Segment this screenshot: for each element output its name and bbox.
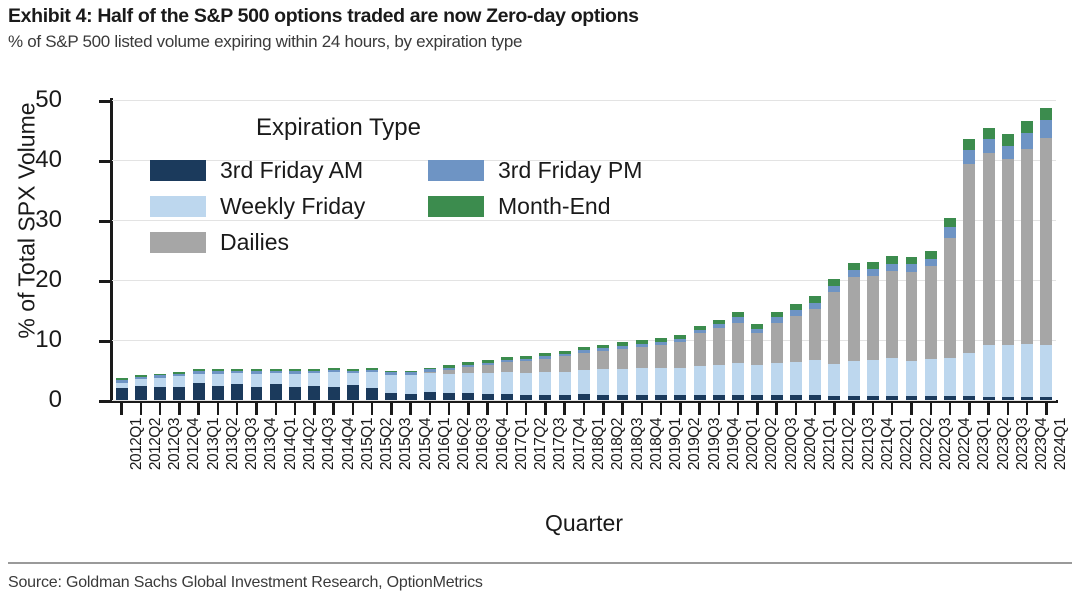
bar-segment — [597, 369, 609, 394]
x-tick-label: 2017Q2 — [532, 418, 550, 470]
x-tick-label: 2014Q2 — [301, 418, 319, 470]
x-axis-title: Quarter — [112, 510, 1056, 537]
bar-column[interactable] — [443, 365, 455, 400]
bar-segment — [655, 395, 667, 400]
bar-column[interactable] — [308, 369, 320, 400]
bar-segment — [906, 396, 918, 400]
x-tick-mark — [236, 402, 239, 415]
x-tick-label: 2014Q1 — [282, 418, 300, 470]
bar-segment — [617, 395, 629, 400]
legend-item[interactable]: Weekly Friday — [150, 195, 428, 218]
bar-column[interactable] — [347, 369, 359, 400]
x-tick-label: 2021Q4 — [879, 418, 897, 470]
legend-swatch — [150, 196, 206, 217]
bar-segment — [848, 361, 860, 396]
bar-segment — [193, 383, 205, 400]
x-tick-mark — [332, 402, 335, 415]
bar-segment — [636, 368, 648, 395]
x-tick-mark — [949, 402, 952, 415]
x-tick-label: 2018Q3 — [629, 418, 647, 470]
x-tick-label: 2022Q4 — [956, 418, 974, 470]
legend-label: 3rd Friday AM — [220, 159, 363, 182]
x-tick-label: 2023Q2 — [995, 418, 1013, 470]
bar-column[interactable] — [809, 296, 821, 400]
x-tick-mark — [756, 402, 759, 415]
bar-segment — [944, 238, 956, 358]
x-tick-mark — [217, 402, 220, 415]
bar-segment — [520, 395, 532, 400]
bar-segment — [983, 139, 995, 153]
x-tick-label: 2022Q1 — [898, 418, 916, 470]
x-tick-mark — [814, 402, 817, 415]
bar-column[interactable] — [848, 263, 860, 400]
bar-segment — [443, 374, 455, 394]
bar-segment — [1040, 108, 1052, 121]
bar-segment — [983, 397, 995, 400]
bar-column[interactable] — [270, 369, 282, 400]
bar-segment — [1002, 397, 1014, 400]
bar-segment — [1040, 397, 1052, 400]
y-tick-mark — [99, 400, 111, 403]
x-tick-mark — [525, 402, 528, 415]
x-tick-label: 2022Q2 — [918, 418, 936, 470]
x-tick-mark — [371, 402, 374, 415]
bar-column[interactable] — [655, 338, 667, 400]
x-tick-mark — [852, 402, 855, 415]
bar-segment — [674, 395, 686, 400]
x-tick-mark — [409, 402, 412, 415]
y-tick-label: 50 — [35, 88, 62, 112]
bar-segment — [135, 379, 147, 386]
x-tick-mark — [872, 402, 875, 415]
bar-column[interactable] — [116, 378, 128, 400]
bar-column[interactable] — [751, 324, 763, 400]
bar-segment — [963, 353, 975, 396]
bar-segment — [790, 362, 802, 396]
bar-segment — [1021, 133, 1033, 149]
bar-segment — [578, 394, 590, 400]
x-tick-mark — [602, 402, 605, 415]
bar-segment — [790, 395, 802, 400]
bar-column[interactable] — [1021, 121, 1033, 400]
legend-items: 3rd Friday AM3rd Friday PMWeekly FridayM… — [150, 152, 670, 260]
x-tick-mark — [795, 402, 798, 415]
bar-column[interactable] — [886, 256, 898, 400]
bar-segment — [963, 150, 975, 164]
bar-segment — [559, 372, 571, 395]
bar-segment — [520, 361, 532, 373]
x-tick-mark — [891, 402, 894, 415]
bar-segment — [405, 394, 417, 400]
bar-segment — [713, 395, 725, 400]
source-note: Source: Goldman Sachs Global Investment … — [8, 574, 483, 592]
bar-segment — [597, 395, 609, 400]
bar-segment — [424, 392, 436, 400]
bar-segment — [771, 395, 783, 400]
x-tick-label: 2021Q1 — [821, 418, 839, 470]
bar-segment — [539, 359, 551, 373]
bar-segment — [655, 368, 667, 395]
x-tick-mark — [429, 402, 432, 415]
bar-segment — [559, 356, 571, 372]
x-tick-mark — [178, 402, 181, 415]
legend-label: 3rd Friday PM — [498, 159, 642, 182]
bar-column[interactable] — [501, 357, 513, 400]
bar-segment — [828, 279, 840, 286]
bar-segment — [578, 353, 590, 370]
bar-segment — [328, 387, 340, 400]
bar-segment — [482, 365, 494, 373]
bar-segment — [482, 373, 494, 394]
x-tick-mark — [448, 402, 451, 415]
bar-segment — [578, 370, 590, 394]
x-tick-label: 2023Q4 — [1033, 418, 1051, 470]
bar-segment — [867, 396, 879, 400]
bar-column[interactable] — [925, 251, 937, 400]
x-tick-mark — [737, 402, 740, 415]
bar-column[interactable] — [694, 326, 706, 400]
bar-segment — [828, 292, 840, 364]
chart-legend: Expiration Type 3rd Friday AM3rd Friday … — [150, 116, 670, 260]
x-tick-label: 2017Q3 — [551, 418, 569, 470]
bar-segment — [944, 358, 956, 396]
x-tick-label: 2015Q4 — [417, 418, 435, 470]
bar-segment — [963, 396, 975, 400]
bar-segment — [347, 385, 359, 400]
bar-column[interactable] — [154, 374, 166, 400]
bar-segment — [501, 362, 513, 372]
bar-segment — [809, 360, 821, 395]
legend-swatch — [428, 196, 484, 217]
x-tick-mark — [255, 402, 258, 415]
x-tick-mark — [390, 402, 393, 415]
bar-segment — [1021, 149, 1033, 344]
bar-segment — [1002, 134, 1014, 145]
bar-column[interactable] — [385, 371, 397, 400]
bar-segment — [135, 386, 147, 400]
bar-column[interactable] — [771, 312, 783, 400]
bar-segment — [636, 347, 648, 368]
y-tick-label: 40 — [35, 148, 62, 172]
legend-label: Month-End — [498, 195, 611, 218]
x-tick-mark — [467, 402, 470, 415]
bar-column[interactable] — [328, 368, 340, 400]
x-tick-mark — [987, 402, 990, 415]
x-tick-label: 2016Q1 — [436, 418, 454, 470]
legend-label: Weekly Friday — [220, 195, 365, 218]
x-tick-mark — [910, 402, 913, 415]
bar-segment — [925, 396, 937, 400]
bar-column[interactable] — [597, 345, 609, 400]
x-tick-label: 2014Q3 — [320, 418, 338, 470]
bar-segment — [366, 372, 378, 388]
bar-segment — [790, 316, 802, 362]
bar-segment — [828, 364, 840, 396]
x-tick-label: 2018Q2 — [609, 418, 627, 470]
bar-column[interactable] — [674, 335, 686, 400]
bar-segment — [1002, 159, 1014, 345]
bar-column[interactable] — [578, 347, 590, 400]
x-tick-mark — [294, 402, 297, 415]
x-tick-mark — [679, 402, 682, 415]
x-tick-label: 2015Q3 — [397, 418, 415, 470]
bar-segment — [886, 396, 898, 400]
x-tick-label: 2018Q1 — [590, 418, 608, 470]
bar-segment — [1021, 121, 1033, 133]
bar-segment — [424, 373, 436, 392]
bar-column[interactable] — [135, 375, 147, 400]
bar-segment — [809, 309, 821, 359]
bar-segment — [751, 365, 763, 395]
x-tick-mark — [275, 402, 278, 415]
x-tick-mark — [833, 402, 836, 415]
bar-segment — [848, 277, 860, 361]
y-tick-label: 0 — [49, 388, 62, 412]
bar-segment — [289, 374, 301, 387]
bar-segment — [655, 345, 667, 368]
legend-item[interactable]: 3rd Friday PM — [428, 159, 706, 182]
bar-segment — [983, 153, 995, 345]
bar-segment — [462, 373, 474, 393]
x-tick-label: 2019Q2 — [686, 418, 704, 470]
bar-segment — [636, 395, 648, 400]
bar-segment — [848, 396, 860, 400]
x-tick-label: 2014Q4 — [340, 418, 358, 470]
exhibit-header: Exhibit 4: Half of the S&P 500 options t… — [8, 6, 1072, 51]
bar-segment — [963, 139, 975, 150]
x-tick-label: 2024Q1 — [1052, 418, 1070, 470]
bar-column[interactable] — [405, 371, 417, 400]
bar-segment — [867, 262, 879, 269]
x-tick-label: 2012Q2 — [147, 418, 165, 470]
bar-segment — [674, 368, 686, 396]
y-tick-label: 20 — [35, 268, 62, 292]
x-tick-label: 2016Q3 — [474, 418, 492, 470]
x-tick-label: 2017Q4 — [571, 418, 589, 470]
bar-segment — [713, 365, 725, 395]
bar-segment — [751, 395, 763, 400]
bar-segment — [251, 374, 263, 387]
bar-column[interactable] — [539, 353, 551, 400]
x-tick-label: 2013Q3 — [243, 418, 261, 470]
bar-column[interactable] — [212, 369, 224, 400]
x-tick-label: 2013Q4 — [262, 418, 280, 470]
legend-item[interactable]: Month-End — [428, 195, 706, 218]
x-tick-mark — [486, 402, 489, 415]
bar-column[interactable] — [983, 128, 995, 400]
bar-segment — [983, 128, 995, 139]
x-tick-label: 2013Q1 — [205, 418, 223, 470]
y-tick-label: 30 — [35, 208, 62, 232]
bar-column[interactable] — [636, 340, 648, 400]
bar-segment — [944, 396, 956, 400]
bar-segment — [886, 256, 898, 264]
x-tick-mark — [352, 402, 355, 415]
bar-column[interactable] — [617, 342, 629, 400]
bar-segment — [154, 387, 166, 400]
x-tick-label: 2022Q3 — [937, 418, 955, 470]
bar-segment — [906, 361, 918, 396]
bar-column[interactable] — [482, 360, 494, 400]
bar-column[interactable] — [732, 312, 744, 400]
bar-segment — [925, 266, 937, 359]
bar-column[interactable] — [828, 279, 840, 400]
bar-segment — [231, 373, 243, 384]
bar-segment — [443, 393, 455, 400]
bar-column[interactable] — [520, 356, 532, 400]
bar-column[interactable] — [867, 262, 879, 400]
bar-column[interactable] — [1002, 134, 1014, 400]
x-tick-mark — [159, 402, 162, 415]
bar-column[interactable] — [462, 362, 474, 400]
x-tick-mark — [930, 402, 933, 415]
bar-segment — [944, 218, 956, 228]
bar-segment — [925, 359, 937, 396]
bar-segment — [713, 328, 725, 365]
x-tick-label: 2015Q1 — [359, 418, 377, 470]
x-tick-label: 2016Q2 — [455, 418, 473, 470]
bar-segment — [328, 372, 340, 386]
bar-segment — [539, 372, 551, 394]
bar-segment — [173, 376, 185, 387]
bar-segment — [501, 372, 513, 394]
bar-segment — [886, 264, 898, 271]
bar-segment — [809, 303, 821, 310]
bar-column[interactable] — [193, 369, 205, 400]
bar-column[interactable] — [251, 369, 263, 400]
x-tick-label: 2020Q2 — [763, 418, 781, 470]
x-tick-label: 2019Q3 — [706, 418, 724, 470]
legend-label: Dailies — [220, 231, 289, 254]
bar-segment — [809, 395, 821, 400]
bar-column[interactable] — [424, 368, 436, 400]
x-tick-label: 2013Q2 — [224, 418, 242, 470]
bar-column[interactable] — [944, 218, 956, 400]
bar-segment — [674, 342, 686, 367]
bar-segment — [732, 363, 744, 394]
bar-segment — [1002, 146, 1014, 160]
bar-segment — [501, 394, 513, 400]
bar-segment — [559, 395, 571, 400]
bar-segment — [1021, 344, 1033, 397]
bar-segment — [617, 369, 629, 395]
footer-divider — [8, 562, 1072, 564]
bar-segment — [385, 393, 397, 400]
bar-segment — [212, 374, 224, 386]
x-tick-mark — [563, 402, 566, 415]
x-tick-mark — [506, 402, 509, 415]
bar-segment — [212, 386, 224, 400]
bar-segment — [925, 251, 937, 259]
x-tick-label: 2016Q4 — [494, 418, 512, 470]
x-tick-mark — [197, 402, 200, 415]
bar-column[interactable] — [366, 368, 378, 400]
page-title: Exhibit 4: Half of the S&P 500 options t… — [8, 6, 1072, 28]
bar-segment — [597, 351, 609, 370]
x-tick-mark — [660, 402, 663, 415]
x-tick-mark — [120, 402, 123, 415]
bar-segment — [251, 387, 263, 400]
bar-segment — [1040, 120, 1052, 137]
bar-segment — [1040, 138, 1052, 345]
legend-item[interactable]: 3rd Friday AM — [150, 159, 428, 182]
bar-segment — [828, 396, 840, 400]
x-tick-label: 2020Q1 — [744, 418, 762, 470]
legend-item[interactable]: Dailies — [150, 231, 428, 254]
legend-swatch — [150, 160, 206, 181]
bar-segment — [906, 264, 918, 271]
bar-column[interactable] — [559, 351, 571, 400]
y-tick-mark — [99, 220, 111, 223]
bar-segment — [308, 386, 320, 400]
bar-column[interactable] — [906, 257, 918, 400]
bar-segment — [270, 373, 282, 384]
bar-segment — [906, 257, 918, 265]
y-tick-mark — [99, 160, 111, 163]
bar-segment — [809, 296, 821, 303]
bar-segment — [1002, 345, 1014, 397]
bar-segment — [270, 384, 282, 400]
x-tick-label: 2021Q3 — [860, 418, 878, 470]
bar-segment — [231, 384, 243, 400]
bar-segment — [173, 387, 185, 400]
bar-segment — [539, 395, 551, 400]
x-tick-label: 2019Q1 — [667, 418, 685, 470]
x-tick-label: 2019Q4 — [725, 418, 743, 470]
x-tick-label: 2012Q3 — [166, 418, 184, 470]
bar-column[interactable] — [231, 369, 243, 400]
x-tick-label: 2023Q3 — [1014, 418, 1032, 470]
legend-swatch — [428, 160, 484, 181]
bar-segment — [385, 375, 397, 393]
bar-column[interactable] — [173, 372, 185, 400]
bar-segment — [520, 373, 532, 395]
bar-segment — [925, 259, 937, 266]
bar-segment — [308, 373, 320, 386]
y-tick-mark — [99, 340, 111, 343]
bar-column[interactable] — [963, 139, 975, 400]
bar-segment — [848, 263, 860, 270]
x-tick-mark — [1045, 402, 1048, 415]
bar-column[interactable] — [289, 369, 301, 400]
page-subtitle: % of S&P 500 listed volume expiring with… — [8, 32, 1072, 52]
x-tick-mark — [718, 402, 721, 415]
y-tick-mark — [99, 100, 111, 103]
bar-segment — [732, 323, 744, 364]
bar-column[interactable] — [1040, 108, 1052, 400]
bar-segment — [116, 388, 128, 400]
x-tick-label: 2012Q1 — [128, 418, 146, 470]
bar-segment — [193, 374, 205, 384]
bar-segment — [944, 227, 956, 238]
x-tick-mark — [641, 402, 644, 415]
bar-segment — [732, 395, 744, 400]
bar-segment — [347, 373, 359, 385]
bar-column[interactable] — [713, 320, 725, 400]
bar-segment — [848, 270, 860, 277]
bar-segment — [482, 394, 494, 400]
bar-segment — [906, 272, 918, 361]
chart-container: % of Total SPX Volume Quarter 0102030405… — [0, 78, 1080, 548]
bar-segment — [154, 378, 166, 388]
bar-segment — [289, 387, 301, 400]
y-tick-mark — [99, 280, 111, 283]
x-tick-mark — [1026, 402, 1029, 415]
bar-segment — [366, 388, 378, 400]
bar-column[interactable] — [790, 304, 802, 400]
bar-segment — [694, 333, 706, 366]
bar-segment — [751, 333, 763, 365]
